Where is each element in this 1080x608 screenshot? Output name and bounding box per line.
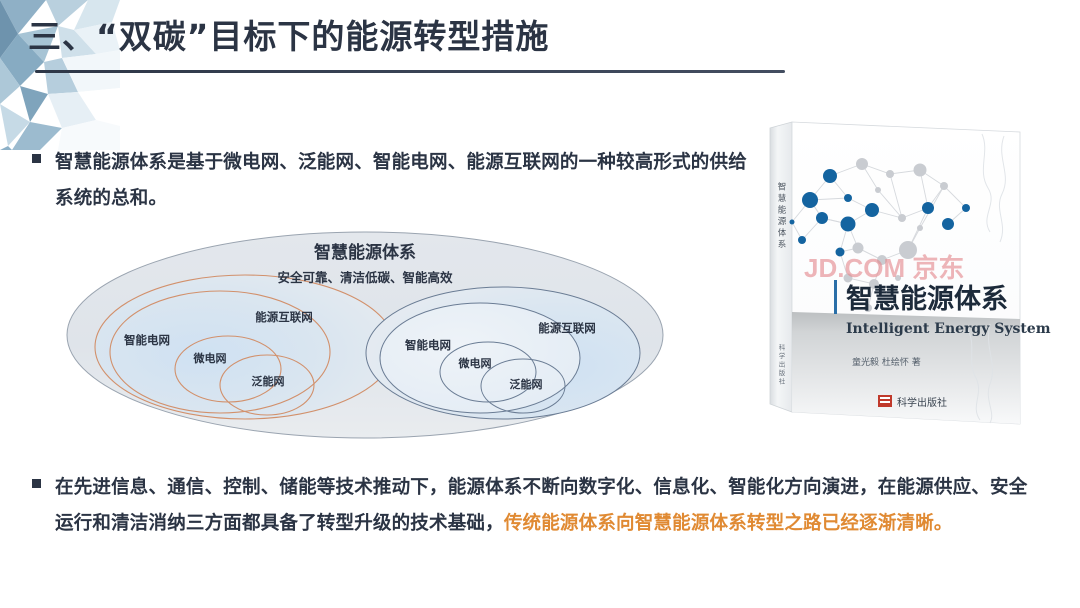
- book-cover-title: 智慧能源体系: [846, 283, 1008, 315]
- book-cover-image: JD.COM 京东 智慧能源体系 Intelligent Energy Syst…: [752, 112, 1062, 437]
- right-micro-grid-label: 微电网: [458, 356, 492, 370]
- book-cover-subtitle: Intelligent Energy System: [846, 321, 1051, 337]
- right-energy-internet-label: 能源互联网: [538, 321, 596, 335]
- venn-title: 智慧能源体系: [314, 242, 416, 263]
- smart-energy-venn-diagram: 智慧能源体系 安全可靠、清洁低碳、智能高效 能源互联网 智能电网 微电网 泛能网…: [60, 225, 680, 450]
- bullet-item-1-body: 智慧能源体系是基于微电网、泛能网、智能电网、能源互联网的一种较高形式的供给系统的…: [55, 145, 762, 217]
- right-smart-grid-label: 智能电网: [405, 338, 451, 352]
- bullet-2-tail: 。: [934, 513, 953, 534]
- bullet-item-1-text: 智慧能源体系是基于微电网、泛能网、智能电网、能源互联网的一种较高形式的供给系统的…: [55, 145, 762, 217]
- book-spine-publisher: 科学出版社: [777, 343, 785, 387]
- left-smart-grid-label: 智能电网: [124, 333, 170, 347]
- venn-subtitle: 安全可靠、清洁低碳、智能高效: [277, 270, 453, 285]
- left-micro-grid-label: 微电网: [193, 351, 227, 365]
- book-spine-title: 智慧能源体系: [776, 181, 786, 251]
- publisher-name: 科学出版社: [897, 396, 947, 409]
- bullet-item-2-body: 在先进信息、通信、控制、储能等技术推动下，能源体系不断向数字化、信息化、智能化方…: [55, 470, 1042, 542]
- bullet-item-1: 智慧能源体系是基于微电网、泛能网、智能电网、能源互联网的一种较高形式的供给系统的…: [32, 145, 762, 217]
- title-divider: [35, 70, 785, 73]
- square-bullet-icon: [32, 154, 41, 163]
- bullet-item-2: 在先进信息、通信、控制、储能等技术推动下，能源体系不断向数字化、信息化、智能化方…: [32, 470, 1042, 542]
- left-energy-internet-ellipse: [95, 275, 395, 419]
- page-title: 三、“双碳”目标下的能源转型措施: [28, 6, 788, 62]
- book-cover-authors: 童光毅 杜绘怀 著: [852, 356, 921, 368]
- bullet-item-2-text: 在先进信息、通信、控制、储能等技术推动下，能源体系不断向数字化、信息化、智能化方…: [55, 470, 1042, 542]
- left-energy-internet-label: 能源互联网: [255, 310, 313, 324]
- jd-watermark: JD.COM 京东: [804, 253, 964, 283]
- page-title-text: 三、“双碳”目标下的能源转型措施: [28, 10, 549, 58]
- right-pan-energy-label: 泛能网: [510, 377, 543, 391]
- book-title-accent-bar: [834, 280, 837, 314]
- bullet-2-highlight: 传统能源体系向智慧能源体系转型之路已经逐渐清晰: [504, 513, 934, 534]
- square-bullet-icon: [32, 479, 41, 488]
- slide-root: 三、“双碳”目标下的能源转型措施 智慧能源体系是基于微电网、泛能网、智能电网、能…: [0, 0, 1080, 608]
- publisher-logo: 科学出版社: [878, 395, 947, 409]
- left-pan-energy-label: 泛能网: [252, 374, 285, 388]
